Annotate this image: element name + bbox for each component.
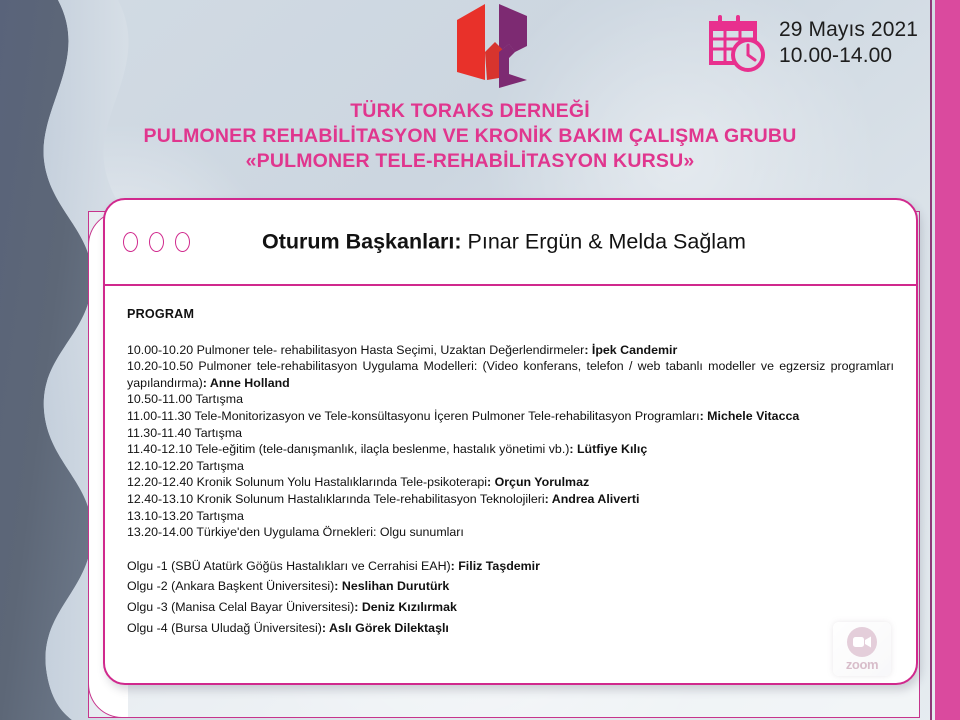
session-row: 11.00-11.30 Tele-Monitorizasyon ve Tele-… (127, 408, 894, 425)
zoom-label: zoom (846, 658, 878, 671)
title-line-1: TÜRK TORAKS DERNEĞİ (0, 99, 940, 124)
program-heading: PROGRAM (127, 306, 894, 323)
case-row: Olgu -4 (Bursa Uludağ Üniversitesi): Asl… (127, 620, 894, 637)
session-topic: Kronik Solunum Hastalıklarında Tele-reha… (193, 492, 544, 506)
session-time: 10.20-10.50 (127, 359, 193, 373)
session-topic: Pulmoner tele- rehabilitasyon Hasta Seçi… (193, 343, 584, 357)
session-row: 13.10-13.20 Tartışma (127, 508, 894, 525)
case-label: Olgu -3 (Manisa Celal Bayar Üniversitesi… (127, 600, 354, 614)
card-header: Oturum Başkanları: Pınar Ergün & Melda S… (105, 200, 916, 286)
title-line-3: «PULMONER TELE-REHABİLİTASYON KURSU» (0, 149, 940, 174)
case-presentation-list: Olgu -1 (SBÜ Atatürk Göğüs Hastalıkları … (127, 558, 894, 636)
session-speaker: Andrea Aliverti (549, 492, 640, 506)
session-chairs: Oturum Başkanları: Pınar Ergün & Melda S… (262, 230, 746, 255)
circle-1-icon (123, 232, 138, 252)
session-topic: Tele-eğitim (tele-danışmanlık, ilaçla be… (192, 442, 569, 456)
session-topic: Tartışma (193, 459, 244, 473)
session-topic: Tartışma (192, 392, 243, 406)
program-card: Oturum Başkanları: Pınar Ergün & Melda S… (103, 198, 918, 685)
case-speaker: Aslı Görek Dilektaşlı (326, 621, 449, 635)
session-chairs-names: Pınar Ergün & Melda Sağlam (462, 230, 746, 254)
session-speaker: Lütfiye Kılıç (574, 442, 648, 456)
event-time: 10.00-14.00 (779, 43, 918, 69)
title-line-2: PULMONER REHABİLİTASYON VE KRONİK BAKIM … (0, 124, 940, 149)
session-row: 12.20-12.40 Kronik Solunum Yolu Hastalık… (127, 474, 894, 491)
session-row: 10.20-10.50 Pulmoner tele-rehabilitasyon… (127, 358, 894, 391)
session-time: 11.30-11.40 (127, 426, 191, 440)
circle-2-icon (149, 232, 164, 252)
case-label: Olgu -1 (SBÜ Atatürk Göğüs Hastalıkları … (127, 559, 451, 573)
session-time: 11.40-12.10 (127, 442, 192, 456)
session-time: 13.20-14.00 (127, 525, 193, 539)
session-time: 10.00-10.20 (127, 343, 193, 357)
session-topic: Türkiye'den Uygulama Örnekleri: Olgu sun… (193, 525, 464, 539)
session-topic: Kronik Solunum Yolu Hastalıklarında Tele… (193, 475, 487, 489)
zoom-watermark: zoom (833, 622, 891, 676)
session-time: 12.40-13.10 (127, 492, 193, 506)
presentation-slide: 29 Mayıs 2021 10.00-14.00 TÜRK TORAKS DE… (0, 0, 960, 720)
calendar-clock-icon (707, 15, 769, 75)
session-row: 10.00-10.20 Pulmoner tele- rehabilitasyo… (127, 342, 894, 359)
session-row: 11.30-11.40 Tartışma (127, 425, 894, 442)
session-topic: Tele-Monitorizasyon ve Tele-konsültasyon… (191, 409, 699, 423)
case-row: Olgu -3 (Manisa Celal Bayar Üniversitesi… (127, 599, 894, 616)
three-circles-icon (123, 232, 190, 252)
session-time: 12.20-12.40 (127, 475, 193, 489)
session-row: 12.10-12.20 Tartışma (127, 458, 894, 475)
case-label: Olgu -2 (Ankara Başkent Üniversitesi) (127, 579, 334, 593)
session-speaker: Orçun Yorulmaz (491, 475, 589, 489)
zoom-video-camera-icon (847, 627, 877, 657)
slide-title: TÜRK TORAKS DERNEĞİ PULMONER REHABİLİTAS… (0, 99, 940, 174)
case-speaker: Filiz Taşdemir (455, 559, 540, 573)
session-speaker: Michele Vitacca (704, 409, 800, 423)
session-row: 11.40-12.10 Tele-eğitim (tele-danışmanlı… (127, 441, 894, 458)
session-speaker: İpek Candemir (588, 343, 677, 357)
list-spacer (127, 541, 894, 558)
session-time: 11.00-11.30 (127, 409, 191, 423)
session-topic: Tartışma (193, 509, 244, 523)
case-speaker: Neslihan Durutürk (338, 579, 449, 593)
case-label: Olgu -4 (Bursa Uludağ Üniversitesi) (127, 621, 322, 635)
session-chairs-label: Oturum Başkanları: (262, 230, 462, 254)
circle-3-icon (175, 232, 190, 252)
session-list: 10.00-10.20 Pulmoner tele- rehabilitasyo… (127, 342, 894, 541)
session-time: 12.10-12.20 (127, 459, 193, 473)
session-time: 13.10-13.20 (127, 509, 193, 523)
session-time: 10.50-11.00 (127, 392, 192, 406)
session-row: 12.40-13.10 Kronik Solunum Hastalıkların… (127, 491, 894, 508)
turkish-thoracic-society-logo-icon (437, 2, 547, 88)
card-body: PROGRAM 10.00-10.20 Pulmoner tele- rehab… (105, 286, 916, 636)
session-speaker: Anne Holland (207, 376, 290, 390)
session-row: 10.50-11.00 Tartışma (127, 391, 894, 408)
case-row: Olgu -1 (SBÜ Atatürk Göğüs Hastalıkları … (127, 558, 894, 575)
case-speaker: Deniz Kızılırmak (358, 600, 456, 614)
date-time-block: 29 Mayıs 2021 10.00-14.00 (707, 14, 927, 80)
case-row: Olgu -2 (Ankara Başkent Üniversitesi): N… (127, 578, 894, 595)
session-row: 13.20-14.00 Türkiye'den Uygulama Örnekle… (127, 524, 894, 541)
event-date: 29 Mayıs 2021 (779, 17, 918, 43)
session-topic: Tartışma (191, 426, 242, 440)
